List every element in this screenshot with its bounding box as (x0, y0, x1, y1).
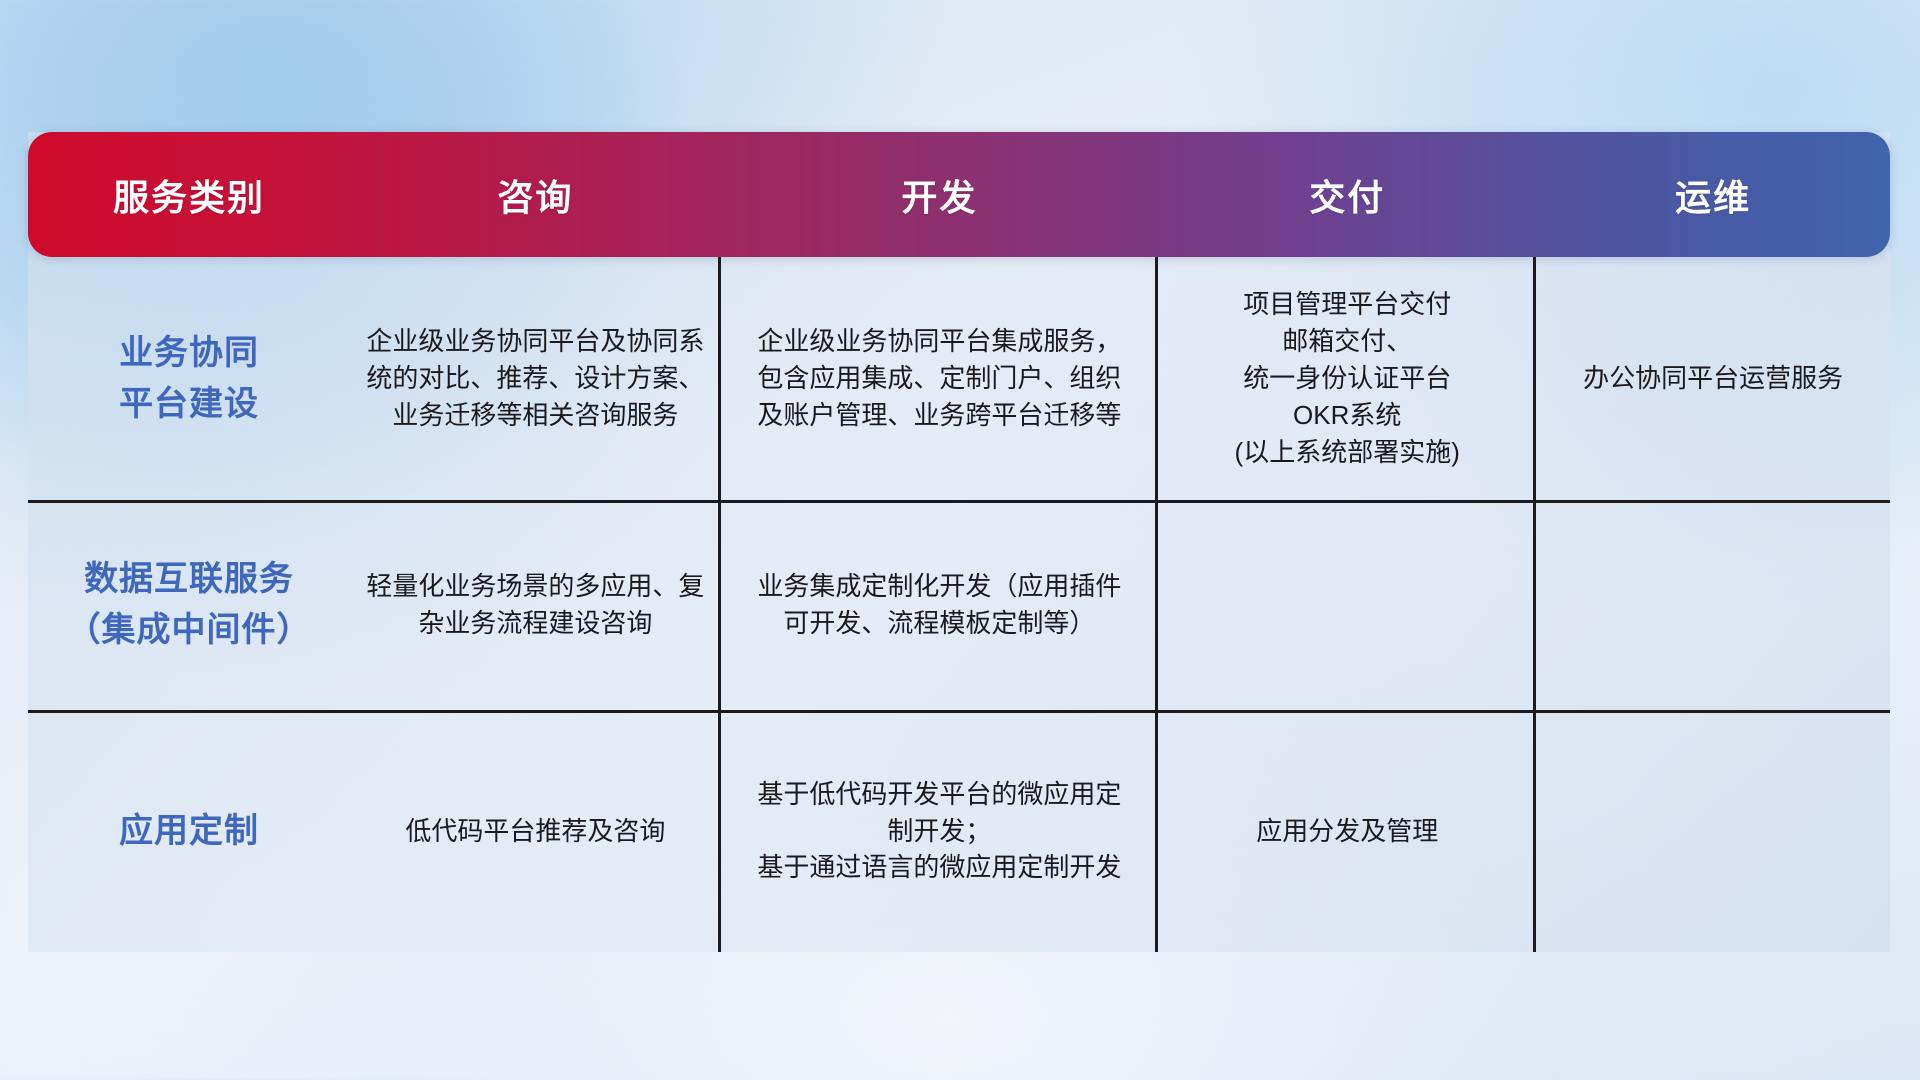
table-row: 业务协同 平台建设 企业级业务协同平台及协同系 统的对比、推荐、设计方案、 业务… (28, 257, 1890, 500)
row-label-data-interconnect: 数据互联服务 （集成中间件） (28, 500, 350, 710)
cell-development-r2: 业务集成定制化开发（应用插件 可开发、流程模板定制等） (721, 500, 1159, 710)
cell-consulting-r2: 轻量化业务场景的多应用、复 杂业务流程建设咨询 (350, 500, 721, 710)
table-header-row: 服务类别 咨询 开发 交付 运维 (28, 132, 1890, 257)
cell-delivery-r1: 项目管理平台交付 邮箱交付、 统一身份认证平台 OKR系统 (以上系统部署实施) (1158, 257, 1536, 500)
cell-consulting-r3: 低代码平台推荐及咨询 (350, 710, 721, 952)
header-label-delivery: 交付 (1309, 169, 1385, 221)
cell-delivery-r3: 应用分发及管理 (1158, 710, 1536, 952)
header-cell-development: 开发 (721, 132, 1159, 257)
cell-operations-r2 (1536, 500, 1890, 710)
row-label-business-collaboration: 业务协同 平台建设 (28, 257, 350, 500)
table-row: 数据互联服务 （集成中间件） 轻量化业务场景的多应用、复 杂业务流程建设咨询 业… (28, 500, 1890, 710)
table-row: 应用定制 低代码平台推荐及咨询 基于低代码开发平台的微应用定 制开发； 基于通过… (28, 710, 1890, 952)
header-cell-service-category: 服务类别 (28, 132, 350, 257)
cell-operations-r1: 办公协同平台运营服务 (1536, 257, 1890, 500)
header-label-development: 开发 (901, 169, 977, 221)
header-cell-delivery: 交付 (1158, 132, 1536, 257)
row-label-app-customization: 应用定制 (28, 710, 350, 952)
cell-delivery-r2 (1158, 500, 1536, 710)
header-label-operations: 运维 (1675, 169, 1751, 221)
cell-consulting-r1: 企业级业务协同平台及协同系 统的对比、推荐、设计方案、 业务迁移等相关咨询服务 (350, 257, 721, 500)
cell-operations-r3 (1536, 710, 1890, 952)
header-cell-consulting: 咨询 (350, 132, 721, 257)
header-label-service-category: 服务类别 (113, 169, 265, 221)
cell-development-r3: 基于低代码开发平台的微应用定 制开发； 基于通过语言的微应用定制开发 (721, 710, 1159, 952)
header-cell-operations: 运维 (1536, 132, 1890, 257)
header-label-consulting: 咨询 (497, 169, 573, 221)
service-matrix-table: 服务类别 咨询 开发 交付 运维 业务协同 平台建设 企业级业务协同平台及协同系… (28, 132, 1890, 952)
cell-development-r1: 企业级业务协同平台集成服务， 包含应用集成、定制门户、组织 及账户管理、业务跨平… (721, 257, 1159, 500)
table-grid: 业务协同 平台建设 企业级业务协同平台及协同系 统的对比、推荐、设计方案、 业务… (28, 257, 1890, 952)
